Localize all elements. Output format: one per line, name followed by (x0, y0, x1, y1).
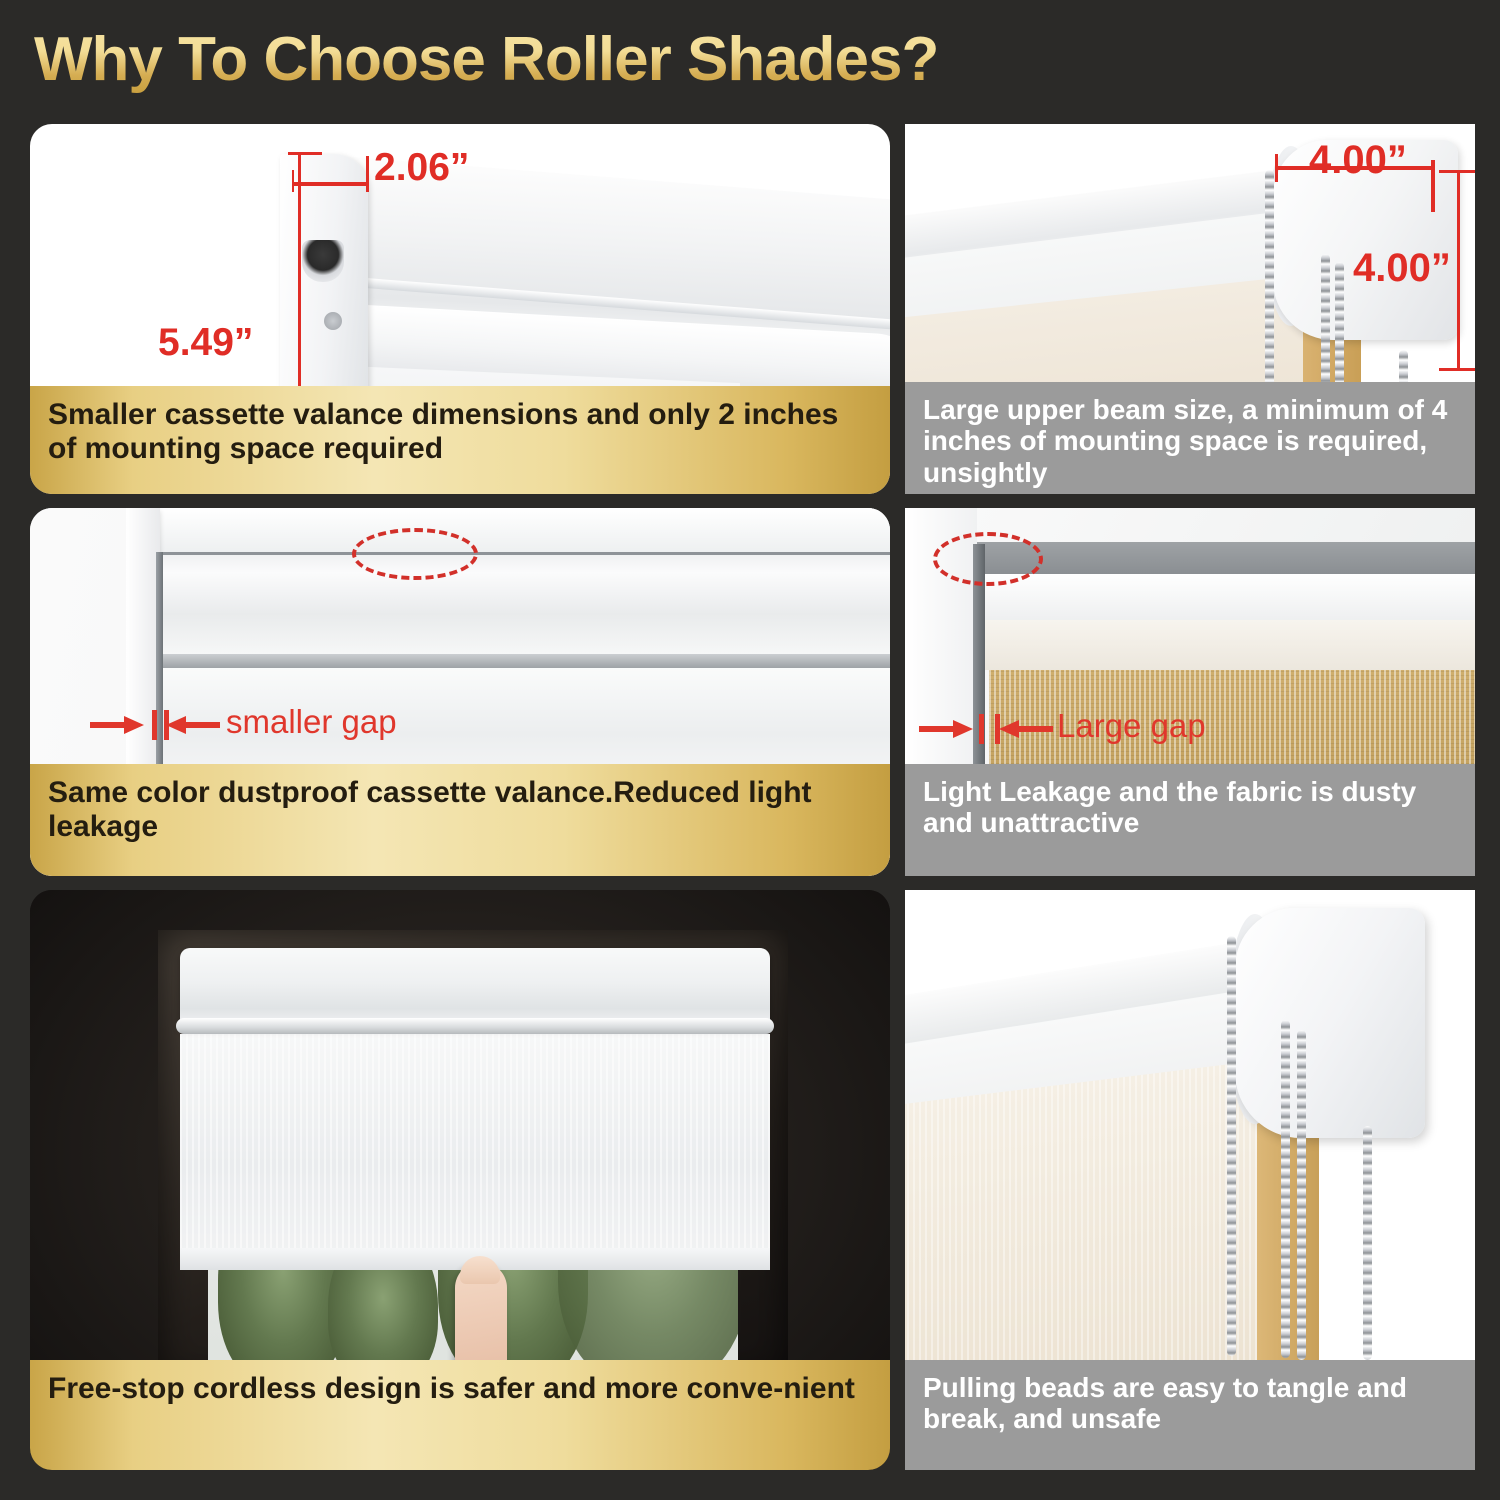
caption-dustproof-cassette: Same color dustproof cassette valance.Re… (30, 764, 890, 876)
height-dimension-label: 5.49” (158, 321, 253, 365)
beam-width-tick-right (1431, 160, 1435, 212)
caption-cassette-valance-dimensions: Smaller cassette valance dimensions and … (30, 386, 890, 494)
caption-large-upper-beam: Large upper beam size, a minimum of 4 in… (905, 382, 1475, 494)
headrail-lower-shape (977, 620, 1475, 670)
caption-free-stop-cordless: Free-stop cordless design is safer and m… (30, 1360, 890, 1470)
bracket-screw-icon (324, 312, 342, 330)
highlight-ellipse-icon (352, 528, 478, 580)
bracket-slot-icon (302, 240, 344, 282)
beam-height-tick-bottom (1439, 368, 1475, 371)
bead-chain-1 (1227, 936, 1236, 1356)
beam-height-line (1457, 170, 1460, 370)
width-dim-line (292, 182, 368, 186)
beam-height-label: 4.00” (1353, 246, 1451, 291)
panel-free-stop-cordless: Free-stop cordless design is safer and m… (30, 890, 890, 1470)
highlight-ellipse-icon (933, 532, 1043, 586)
shade-fabric-shape (180, 1034, 770, 1254)
height-dim-tick-top (288, 152, 322, 155)
cassette-valance-shape (180, 948, 770, 1026)
valance-rail-shape (176, 1018, 774, 1034)
panel-large-upper-beam: 4.00” 4.00” Large upper beam size, a min… (905, 124, 1475, 494)
page-title: Why To Choose Roller Shades? (34, 24, 938, 95)
width-dim-tick-right (366, 156, 369, 192)
beam-width-label: 4.00” (1309, 138, 1407, 183)
end-bracket-shape (1235, 908, 1425, 1138)
valance-rail-shape (160, 654, 890, 668)
width-dim-tick-left (292, 170, 294, 192)
bead-chain-3 (1297, 1030, 1306, 1360)
panel-cassette-valance-dimensions: 2.06” 5.49” Smaller cassette valance dim… (30, 124, 890, 494)
window-frame-top (126, 508, 890, 552)
panel-pulling-beads-tangle: Pulling beads are easy to tangle and bre… (905, 890, 1475, 1470)
smaller-gap-label: smaller gap (226, 703, 397, 741)
large-gap-label: Large gap (1057, 707, 1206, 745)
caption-light-leakage: Light Leakage and the fabric is dusty an… (905, 764, 1475, 876)
panel-dustproof-cassette-small-gap: smaller gap Same color dustproof cassett… (30, 508, 890, 876)
width-dimension-label: 2.06” (374, 146, 469, 190)
bead-chain-2 (1281, 1020, 1290, 1358)
beam-height-tick-top (1439, 170, 1475, 173)
cassette-valance-shape (160, 552, 890, 654)
panel-light-leakage-large-gap: Large gap Light Leakage and the fabric i… (905, 508, 1475, 876)
bead-chain-4 (1363, 1126, 1372, 1360)
caption-pulling-beads: Pulling beads are easy to tangle and bre… (905, 1360, 1475, 1470)
title-bar: Why To Choose Roller Shades? (0, 0, 1500, 118)
